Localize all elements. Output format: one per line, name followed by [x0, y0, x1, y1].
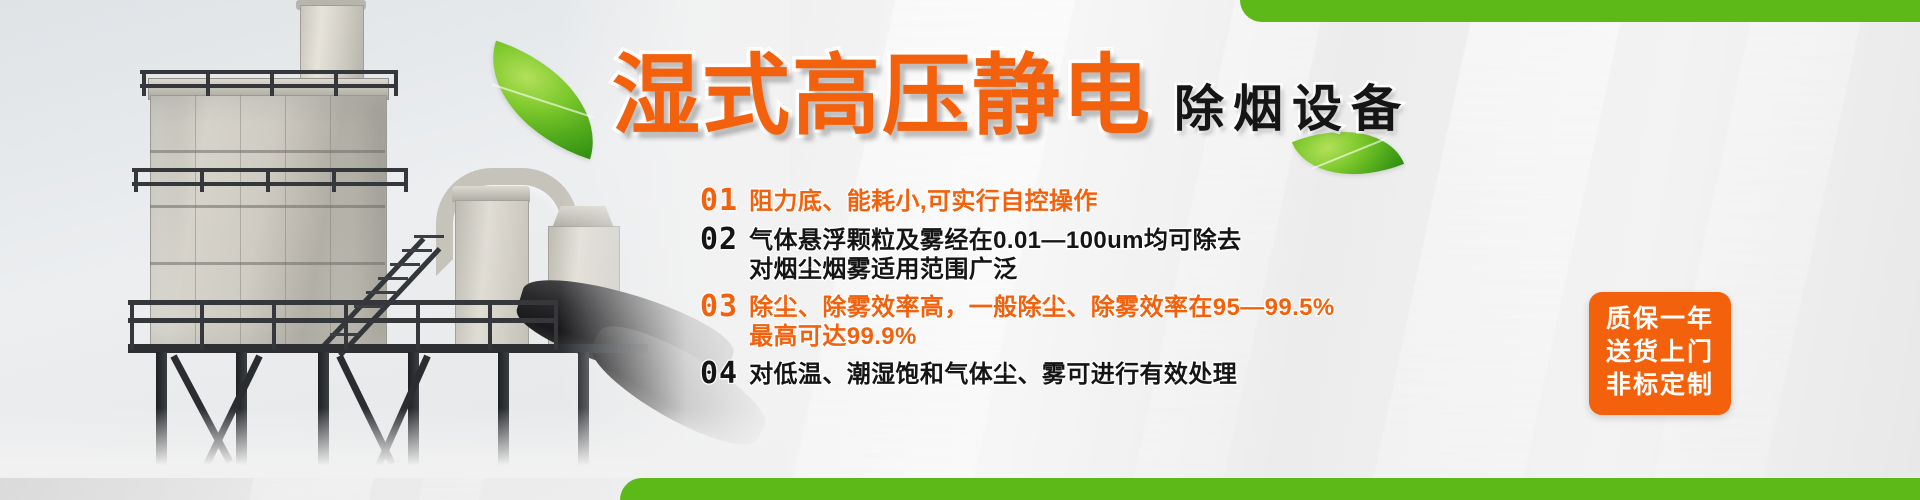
- feature-line-1: 除尘、除雾效率高，一般除尘、除雾效率在95—99.5%: [749, 294, 1335, 321]
- railing-post: [206, 70, 210, 96]
- lower-railing: [128, 318, 558, 323]
- railing-post: [266, 168, 270, 192]
- railing-post: [554, 300, 558, 350]
- railing: [132, 182, 408, 186]
- badge-line-custom: 非标定制: [1589, 369, 1731, 402]
- railing-post: [272, 300, 276, 350]
- list-item: 02 气体悬浮颗粒及雾经在0.01—100um均可除去 对烟尘烟雾适用范围广泛: [700, 222, 1300, 285]
- railing-post: [142, 70, 146, 96]
- railing-post: [394, 70, 398, 96]
- railing-post: [270, 70, 274, 96]
- green-accent-bar-bottom: [620, 478, 1920, 500]
- feature-line-2: 对烟尘烟雾适用范围广泛: [749, 256, 1241, 285]
- badge-line-warranty: 质保一年: [1589, 303, 1731, 336]
- tower-band: [150, 150, 385, 153]
- railing-post: [200, 168, 204, 192]
- badge-line-delivery: 送货上门: [1589, 336, 1731, 369]
- railing-post: [404, 168, 408, 192]
- promo-banner: 湿式高压静电 除烟设备 01 阻力底、能耗小,可实行自控操作 02 气体悬浮颗粒…: [0, 0, 1920, 500]
- tower-seam: [240, 95, 241, 345]
- photo-bottom-fade: [0, 408, 790, 478]
- railing-post: [334, 70, 338, 96]
- list-item: 01 阻力底、能耗小,可实行自控操作: [700, 183, 1300, 218]
- feature-text: 除尘、除雾效率高，一般除尘、除雾效率在95—99.5% 最高可达99.9%: [749, 289, 1335, 352]
- guarantee-badge: 质保一年 送货上门 非标定制: [1589, 292, 1731, 415]
- feature-line-1: 气体悬浮颗粒及雾经在0.01—100um均可除去: [749, 227, 1241, 254]
- railing-post: [200, 300, 204, 350]
- feature-list: 01 阻力底、能耗小,可实行自控操作 02 气体悬浮颗粒及雾经在0.01—100…: [700, 183, 1300, 395]
- stair-step: [366, 291, 396, 294]
- feature-number: 03: [700, 289, 738, 324]
- railing-post: [130, 300, 134, 350]
- headline-group: 湿式高压静电 除烟设备: [612, 52, 1410, 140]
- feature-text: 气体悬浮颗粒及雾经在0.01—100um均可除去 对烟尘烟雾适用范围广泛: [749, 222, 1241, 285]
- railing-post: [488, 300, 492, 350]
- feature-number: 04: [700, 356, 738, 391]
- page-title: 湿式高压静电: [612, 52, 1152, 140]
- stair-step: [354, 305, 384, 308]
- list-item: 03 除尘、除雾效率高，一般除尘、除雾效率在95—99.5% 最高可达99.9%: [700, 289, 1300, 352]
- stair-step: [390, 263, 420, 266]
- feature-text: 对低温、潮湿饱和气体尘、雾可进行有效处理: [749, 356, 1237, 390]
- stair-step: [378, 277, 408, 280]
- feature-line-1: 阻力底、能耗小,可实行自控操作: [749, 188, 1098, 215]
- feature-number: 02: [700, 222, 738, 257]
- leaf-vein: [1311, 138, 1386, 170]
- railing-post: [344, 300, 348, 350]
- lower-railing: [128, 300, 558, 305]
- access-stairs: [324, 205, 444, 353]
- railing: [132, 168, 408, 172]
- railing-post: [416, 300, 420, 350]
- stair-step: [402, 249, 432, 252]
- railing-post: [332, 168, 336, 192]
- tower-seam: [285, 95, 286, 345]
- list-item: 04 对低温、潮湿饱和气体尘、雾可进行有效处理: [700, 356, 1300, 391]
- feature-line-2: 最高可达99.9%: [749, 323, 1335, 352]
- stair-step: [414, 235, 444, 238]
- railing-post: [134, 168, 138, 192]
- railing: [140, 84, 398, 88]
- secondary-column: [455, 200, 529, 350]
- green-accent-bar-top: [1240, 0, 1920, 22]
- tower-seam: [195, 95, 196, 345]
- feature-text: 阻力底、能耗小,可实行自控操作: [749, 183, 1098, 217]
- railing: [140, 70, 398, 74]
- feature-number: 01: [700, 183, 738, 218]
- page-subtitle: 除烟设备: [1174, 84, 1410, 140]
- feature-line-1: 对低温、潮湿饱和气体尘、雾可进行有效处理: [749, 361, 1237, 388]
